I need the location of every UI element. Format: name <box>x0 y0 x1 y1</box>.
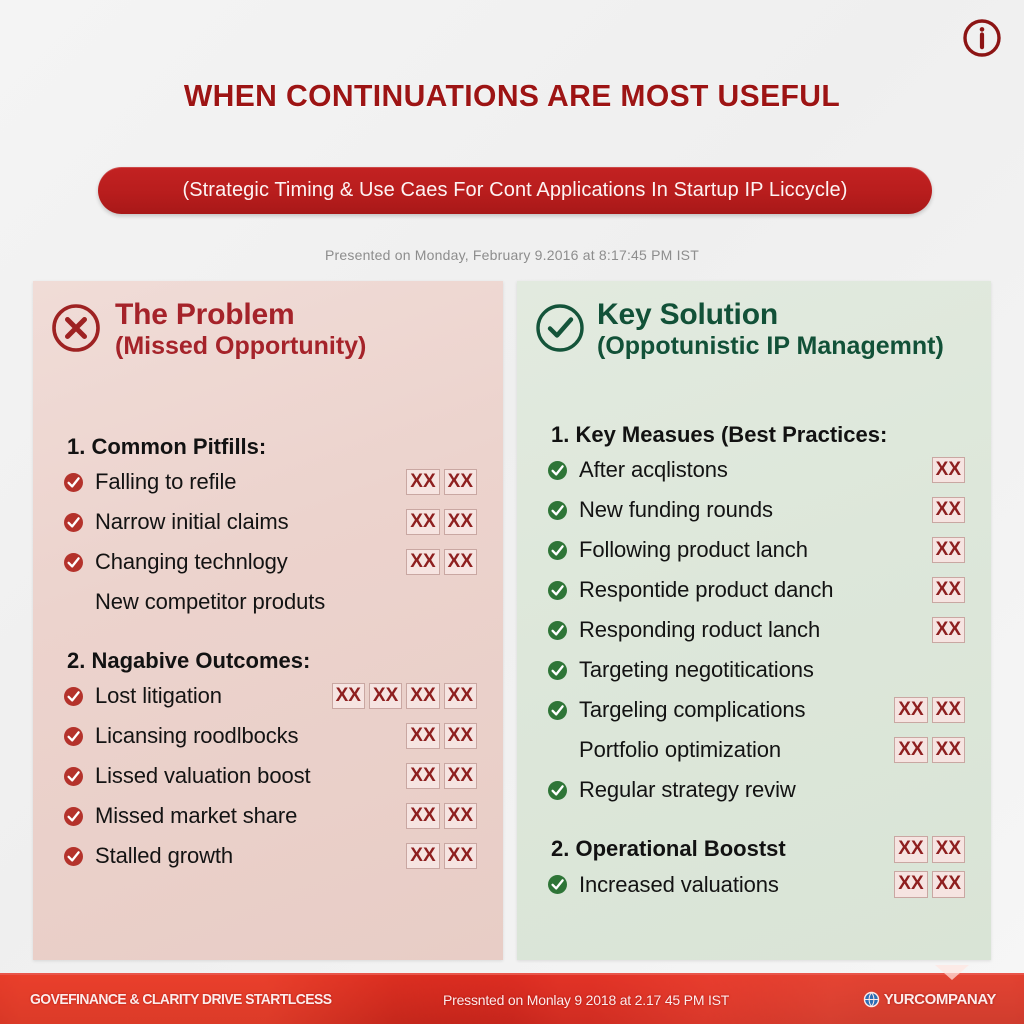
list-item[interactable]: Regular strategy reviw <box>533 770 969 810</box>
status-badge: XX <box>444 763 477 789</box>
badge-group: XX <box>922 617 965 643</box>
list-item-label: Increased valuations <box>579 872 779 898</box>
check-circle-icon <box>63 806 84 827</box>
check-circle-icon <box>547 660 568 681</box>
badge-group: XXXX <box>884 871 965 897</box>
footer-notch-icon <box>935 965 969 980</box>
list-item-label: After acqlistons <box>579 457 728 483</box>
list-item[interactable]: After acqlistonsXX <box>533 450 969 490</box>
list-item-label: Missed market share <box>95 803 297 829</box>
section-list: Increased valuationsXXXX <box>533 865 969 905</box>
list-item-label: Portfolio optimization <box>579 737 781 763</box>
subtitle-pill: (Strategic Timing & Use Caes For Cont Ap… <box>98 167 932 214</box>
problem-panel: The Problem (Missed Opportunity) 1. Comm… <box>33 281 503 960</box>
list-item-label: Lost litigation <box>95 683 222 709</box>
list-item[interactable]: Licansing roodlbocksXXXX <box>49 716 481 756</box>
list-item-label: Following product lanch <box>579 537 808 563</box>
section-heading-label: 1. Key Measues (Best Practices: <box>551 422 887 447</box>
solution-panel-header: Key Solution (Oppotunistic IP Managemnt) <box>533 299 969 360</box>
check-circle-icon <box>547 540 568 561</box>
list-item[interactable]: Stalled growthXXXX <box>49 836 481 876</box>
badge-group: XXXX <box>396 549 477 575</box>
status-badge: XX <box>932 537 965 563</box>
list-item-label: Respontide product danch <box>579 577 833 603</box>
list-item[interactable]: New competitor produts <box>49 582 481 622</box>
presented-timestamp: Presented on Monday, February 9.2016 at … <box>0 247 1024 263</box>
list-item[interactable]: New funding roundsXX <box>533 490 969 530</box>
badge-group: XXXX <box>884 697 965 723</box>
footer-bar: GOVEFINANCE & CLARITY DRIVE STARTLCESS P… <box>0 973 1024 1024</box>
check-circle-icon <box>547 460 568 481</box>
badge-group: XXXX <box>884 836 965 862</box>
list-item-label: Falling to refile <box>95 469 236 495</box>
status-badge: XX <box>894 836 927 862</box>
problem-sections: 1. Common Pitfills:Falling to refileXXXX… <box>49 434 481 876</box>
check-circle-icon <box>547 874 568 895</box>
list-item-label: Targeting negotitications <box>579 657 814 683</box>
badge-group: XXXXXXXX <box>322 683 477 709</box>
circle-x-icon <box>49 301 103 355</box>
list-item[interactable]: Missed market shareXXXX <box>49 796 481 836</box>
status-badge: XX <box>932 497 965 523</box>
badge-group: XX <box>922 457 965 483</box>
solution-panel: Key Solution (Oppotunistic IP Managemnt)… <box>517 281 991 960</box>
list-item-label: Lissed valuation boost <box>95 763 311 789</box>
check-circle-icon <box>547 700 568 721</box>
badge-group: XXXX <box>396 803 477 829</box>
list-item-label: Responding roduct lanch <box>579 617 820 643</box>
badge-group: XXXX <box>396 843 477 869</box>
list-item-label: New funding rounds <box>579 497 773 523</box>
status-badge: XX <box>932 577 965 603</box>
solution-title: Key Solution <box>597 299 944 331</box>
status-badge: XX <box>444 549 477 575</box>
footer-tagline: GOVEFINANCE & CLARITY DRIVE STARTLCESS <box>30 991 331 1008</box>
list-item-label: Targeling complications <box>579 697 805 723</box>
problem-subtitle: (Missed Opportunity) <box>115 333 366 361</box>
list-item-label: Licansing roodlbocks <box>95 723 298 749</box>
status-badge: XX <box>444 509 477 535</box>
status-badge: XX <box>406 469 439 495</box>
list-item[interactable]: Targeting negotitications <box>533 650 969 690</box>
circle-check-icon <box>533 301 587 355</box>
problem-panel-header: The Problem (Missed Opportunity) <box>49 299 481 360</box>
status-badge: XX <box>894 737 927 763</box>
list-item[interactable]: Lissed valuation boostXXXX <box>49 756 481 796</box>
status-badge: XX <box>894 871 927 897</box>
section-list: Lost litigationXXXXXXXXLicansing roodlbo… <box>49 676 481 876</box>
status-badge: XX <box>406 683 439 709</box>
check-circle-icon <box>63 512 84 533</box>
list-item[interactable]: Targeling complicationsXXXX <box>533 690 969 730</box>
check-circle-icon <box>63 472 84 493</box>
status-badge: XX <box>406 803 439 829</box>
badge-group: XXXX <box>396 509 477 535</box>
list-item[interactable]: Narrow initial claimsXXXX <box>49 502 481 542</box>
section-heading-label: 2. Operational Boostst <box>551 836 786 862</box>
section-heading: 2. Operational BooststXXXX <box>551 836 965 862</box>
list-item[interactable]: Respontide product danchXX <box>533 570 969 610</box>
badge-group: XXXX <box>884 737 965 763</box>
section-heading: 1. Key Measues (Best Practices: <box>551 422 969 448</box>
status-badge: XX <box>406 723 439 749</box>
status-badge: XX <box>406 549 439 575</box>
list-item[interactable]: Increased valuationsXXXX <box>533 865 969 905</box>
problem-title: The Problem <box>115 299 366 331</box>
list-item[interactable]: Lost litigationXXXXXXXX <box>49 676 481 716</box>
status-badge: XX <box>332 683 365 709</box>
status-badge: XX <box>369 683 402 709</box>
list-item[interactable]: Changing technlogyXXXX <box>49 542 481 582</box>
footer-presented-timestamp: Pressnted on Monlay 9 2018 at 2.17 45 PM… <box>443 992 729 1008</box>
status-badge: XX <box>444 803 477 829</box>
badge-group: XX <box>922 537 965 563</box>
section-heading: 2. Nagabive Outcomes: <box>67 648 481 674</box>
check-circle-icon <box>547 620 568 641</box>
section-heading: 1. Common Pitfills: <box>67 434 481 460</box>
badge-group: XXXX <box>396 763 477 789</box>
status-badge: XX <box>406 509 439 535</box>
list-item[interactable]: Portfolio optimizationXXXX <box>533 730 969 770</box>
status-badge: XX <box>932 697 965 723</box>
footer-brand[interactable]: YURCOMPANAY <box>863 991 996 1008</box>
solution-sections: 1. Key Measues (Best Practices:After acq… <box>533 422 969 904</box>
status-badge: XX <box>932 617 965 643</box>
status-badge: XX <box>932 871 965 897</box>
footer-brand-label: YURCOMPANAY <box>884 991 996 1008</box>
status-badge: XX <box>444 723 477 749</box>
check-circle-icon <box>63 846 84 867</box>
check-circle-icon <box>63 552 84 573</box>
check-circle-icon <box>63 726 84 747</box>
status-badge: XX <box>932 457 965 483</box>
list-item[interactable]: Falling to refileXXXX <box>49 462 481 502</box>
badge-group: XX <box>922 577 965 603</box>
section-list: After acqlistonsXXNew funding roundsXXFo… <box>533 450 969 810</box>
list-item[interactable]: Following product lanchXX <box>533 530 969 570</box>
panels-container: The Problem (Missed Opportunity) 1. Comm… <box>33 281 991 960</box>
check-circle-icon <box>547 780 568 801</box>
check-circle-icon <box>547 500 568 521</box>
list-item-label: Narrow initial claims <box>95 509 289 535</box>
status-badge: XX <box>932 836 965 862</box>
list-item[interactable]: Responding roduct lanchXX <box>533 610 969 650</box>
status-badge: XX <box>406 843 439 869</box>
list-item-label: New competitor produts <box>95 589 325 615</box>
badge-group: XX <box>922 497 965 523</box>
info-icon[interactable] <box>960 16 1004 60</box>
badge-group: XXXX <box>396 469 477 495</box>
status-badge: XX <box>932 737 965 763</box>
list-item-label: Regular strategy reviw <box>579 777 796 803</box>
page-title: WHEN CONTINUATIONS ARE MOST USEFUL <box>15 78 1008 114</box>
section-list: Falling to refileXXXXNarrow initial clai… <box>49 462 481 622</box>
brand-globe-icon <box>863 991 880 1008</box>
check-circle-icon <box>63 686 84 707</box>
check-circle-icon <box>63 766 84 787</box>
status-badge: XX <box>444 843 477 869</box>
section-heading-label: 2. Nagabive Outcomes: <box>67 648 310 673</box>
badge-group: XXXX <box>396 723 477 749</box>
status-badge: XX <box>406 763 439 789</box>
status-badge: XX <box>894 697 927 723</box>
solution-subtitle: (Oppotunistic IP Managemnt) <box>597 333 944 361</box>
list-item-label: Stalled growth <box>95 843 233 869</box>
list-item-label: Changing technlogy <box>95 549 288 575</box>
check-circle-icon <box>547 580 568 601</box>
slide-root: WHEN CONTINUATIONS ARE MOST USEFUL (Stra… <box>0 0 1024 1024</box>
subtitle-text: (Strategic Timing & Use Caes For Cont Ap… <box>182 179 847 202</box>
status-badge: XX <box>444 469 477 495</box>
section-heading-label: 1. Common Pitfills: <box>67 434 266 459</box>
status-badge: XX <box>444 683 477 709</box>
